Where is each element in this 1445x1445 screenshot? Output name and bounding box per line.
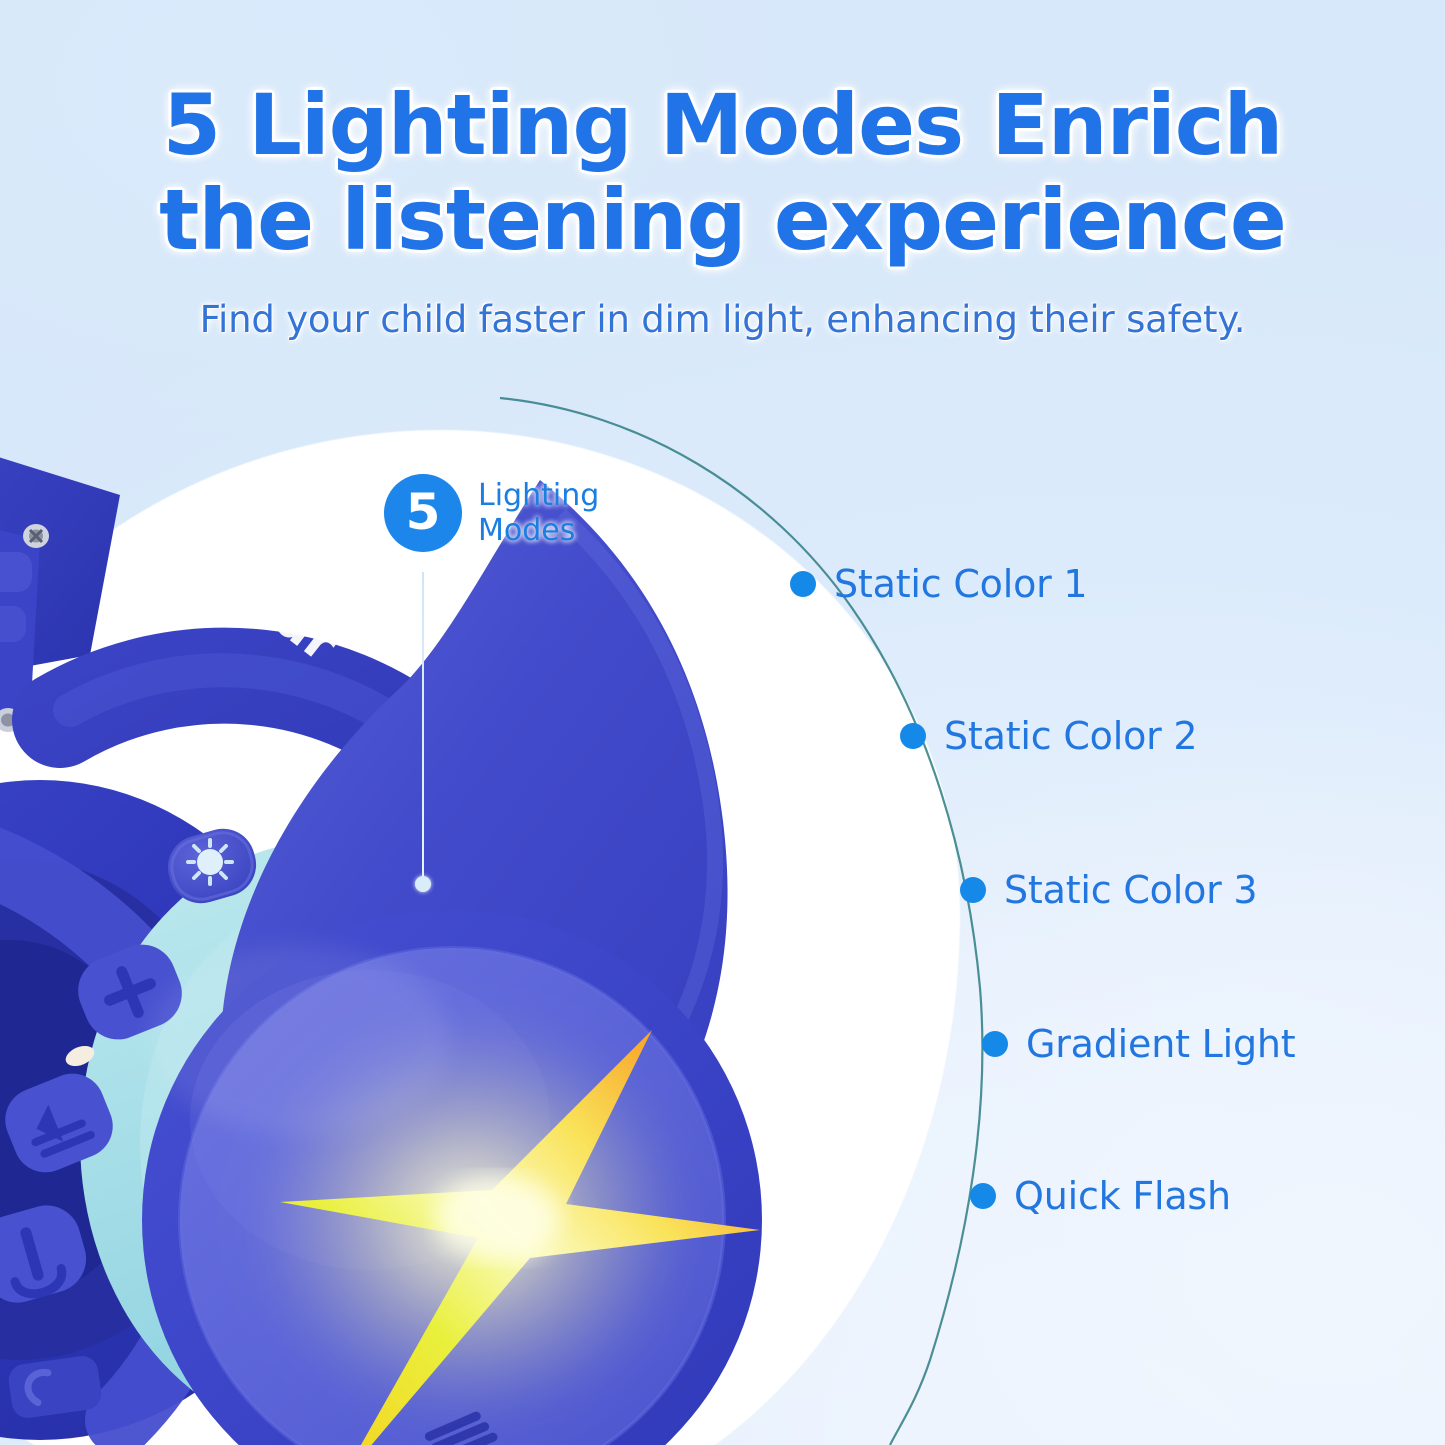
mode-label: Static Color 1 [834,562,1087,606]
mode-bullet-dot [790,571,816,597]
mode-label: Static Color 2 [944,714,1197,758]
mode-label: Static Color 3 [1004,868,1257,912]
badge-label-line-1: Lighting [478,478,599,513]
mode-item-gradient-light: Gradient Light [982,1022,1296,1066]
badge-connector-endpoint [415,876,431,892]
badge-number: 5 [406,487,441,537]
lighting-modes-badge: 5 Lighting Modes [384,474,599,552]
mode-label: Quick Flash [1014,1174,1231,1218]
badge-label: Lighting Modes [478,474,599,549]
headline-block: 5 Lighting Modes Enrich the listening ex… [0,78,1445,341]
page-title-line-2: the listening experience [0,173,1445,268]
mode-item-static-color-3: Static Color 3 [960,868,1257,912]
page-subtitle: Find your child faster in dim light, enh… [0,298,1445,341]
page-title-line-1: 5 Lighting Modes Enrich [0,78,1445,173]
mode-label: Gradient Light [1026,1022,1296,1066]
badge-label-line-2: Modes [478,513,599,548]
mode-bullet-dot [982,1031,1008,1057]
mode-item-static-color-1: Static Color 1 [790,562,1087,606]
badge-circle: 5 [384,474,462,552]
mode-bullet-dot [960,877,986,903]
mode-bullet-dot [970,1183,996,1209]
badge-connector-line [422,572,424,884]
product-feature-banner: 5 Lighting Modes Enrich the listening ex… [0,0,1445,1445]
mode-bullet-dot [900,723,926,749]
mode-item-static-color-2: Static Color 2 [900,714,1197,758]
mode-item-quick-flash: Quick Flash [970,1174,1231,1218]
